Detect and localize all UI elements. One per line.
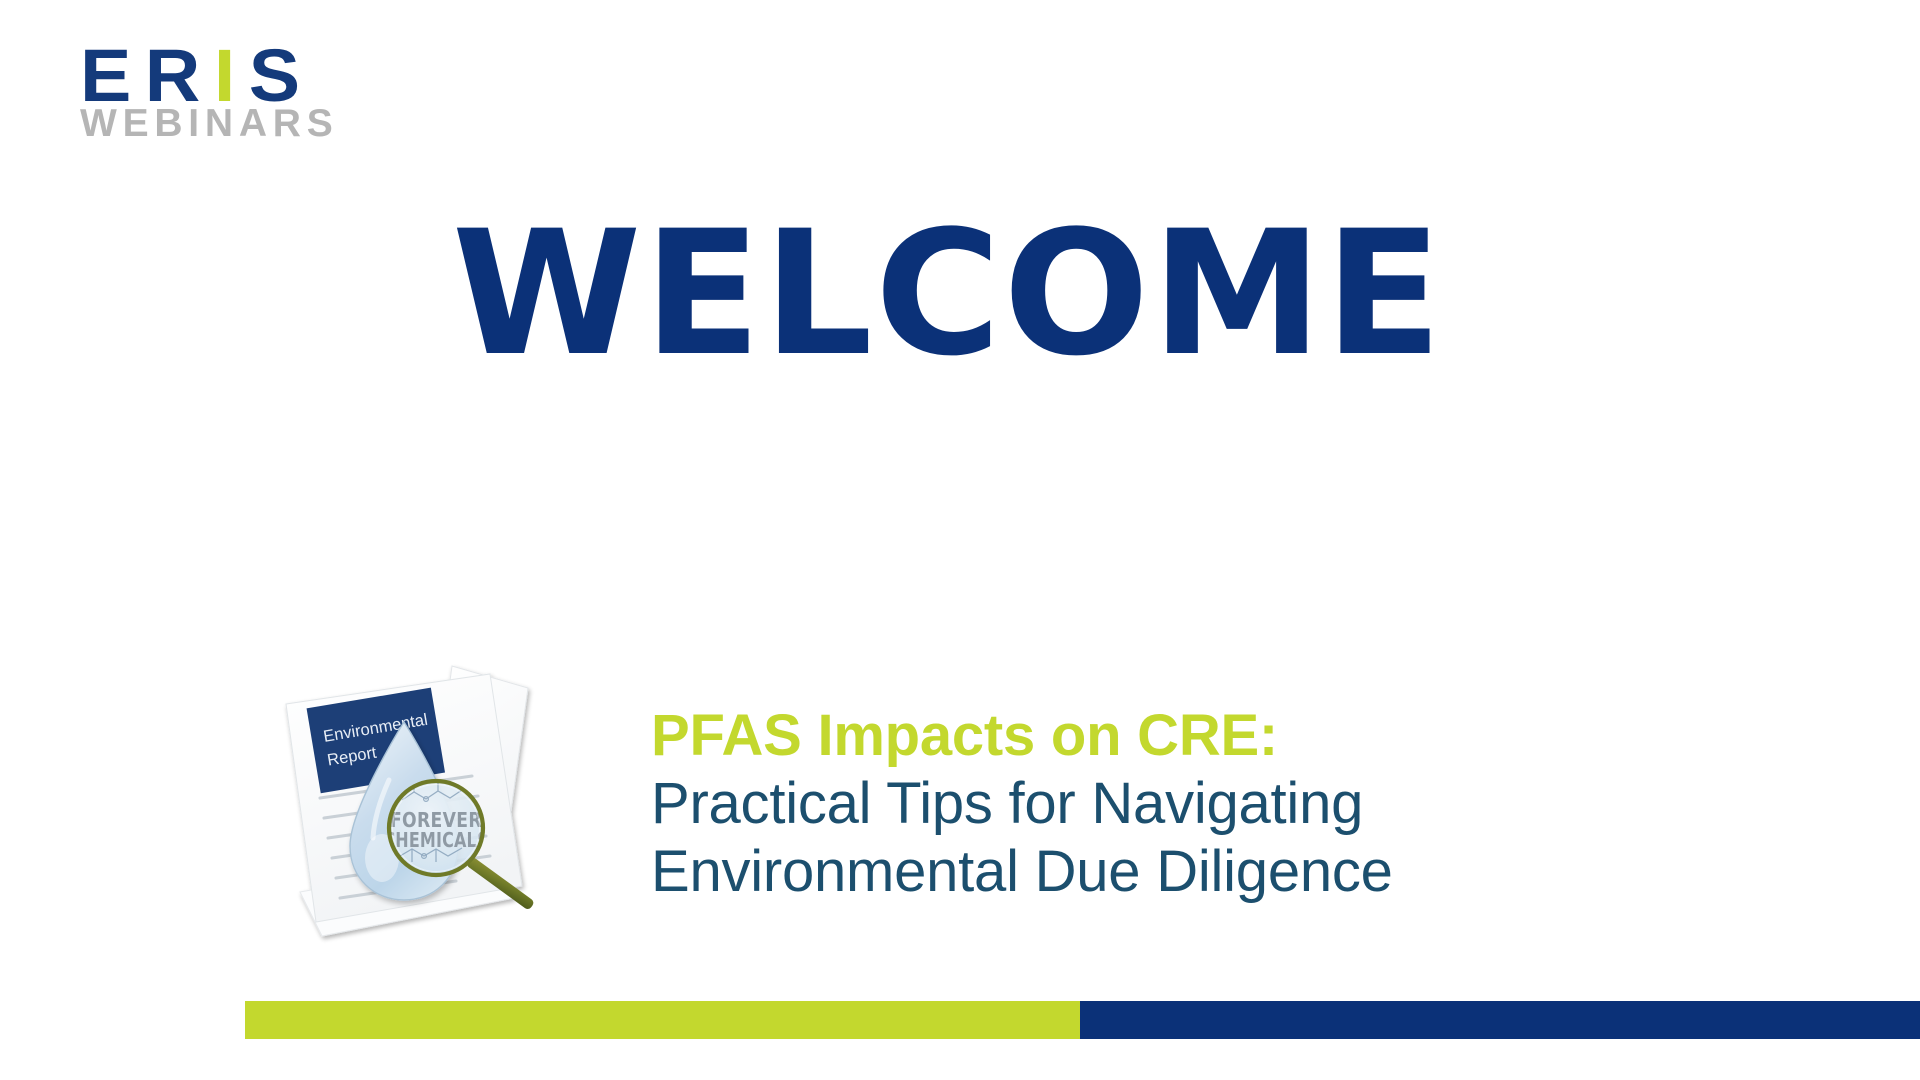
footer-bar-navy-segment: [1080, 1001, 1920, 1039]
footer-accent-bar: [245, 1001, 1920, 1039]
session-subtitle-line-2: Environmental Due Diligence: [651, 838, 1801, 906]
session-title-main: PFAS Impacts on CRE:: [651, 702, 1801, 770]
logo-wordmark-eris: ERIS: [80, 42, 496, 110]
welcome-slide: ERIS WEBINARS WELCOME: [0, 0, 1920, 1080]
footer-bar-green-segment: [245, 1001, 1080, 1039]
page-title-welcome: WELCOME: [0, 208, 1908, 380]
magnifier-text-line2: CHEMICALS: [383, 829, 488, 852]
session-subtitle-line-1: Practical Tips for Navigating: [651, 770, 1801, 838]
illustration-svg: Environmental Report: [276, 660, 552, 950]
environmental-report-illustration: Environmental Report: [276, 660, 552, 950]
eris-webinars-logo: ERIS WEBINARS: [80, 42, 480, 152]
session-title-block: PFAS Impacts on CRE: Practical Tips for …: [651, 702, 1801, 906]
logo-subtitle-webinars: WEBINARS: [80, 104, 480, 143]
